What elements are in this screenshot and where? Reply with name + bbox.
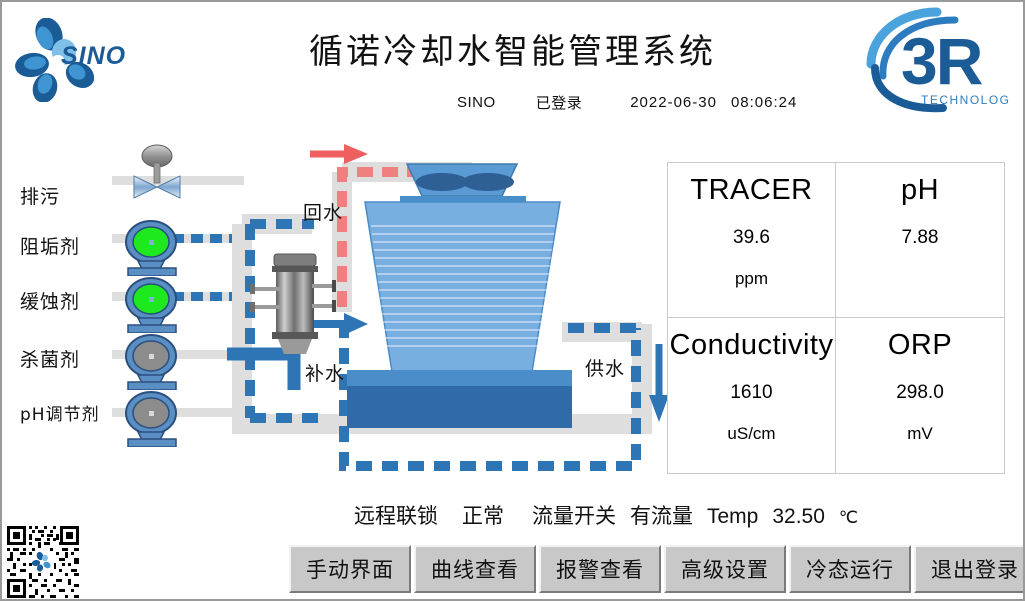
reading-label: TRACER: [690, 175, 812, 207]
label-supply-water: 供水: [585, 354, 625, 381]
arrow-return-water: [310, 144, 368, 164]
process-flow-diagram: [2, 132, 672, 482]
pump-corrosion-inhibitor[interactable]: [120, 277, 184, 333]
session-status-bar: SINO 已登录 2022-06-30 08:06:24: [457, 92, 797, 113]
pump-biocide[interactable]: [120, 334, 184, 390]
button-advanced-settings[interactable]: 高级设置: [664, 545, 786, 593]
3r-technology-logo: 3R TECHNOLOGY: [859, 6, 1011, 114]
system-time: 08:06:24: [731, 94, 797, 111]
button-cold-start-run[interactable]: 冷态运行: [789, 545, 911, 593]
blowdown-valve-icon[interactable]: [124, 143, 190, 205]
reading-value: 298.0: [896, 382, 944, 404]
system-date: 2022-06-30: [630, 94, 717, 111]
button-trend-view[interactable]: 曲线查看: [414, 545, 536, 593]
tower-basin: [347, 386, 572, 428]
measurements-panel: TRACER 39.6 ppm pH 7.88 Conductivity 161…: [667, 162, 1005, 474]
logged-in-user: SINO: [457, 94, 496, 111]
svg-text:3R: 3R: [901, 24, 983, 98]
tower-fan-blade-left: [416, 173, 468, 191]
reading-value: 39.6: [733, 227, 770, 249]
application-window: SINO 循诺冷却水智能管理系统 SINO 已登录 2022-06-30 08:…: [0, 0, 1025, 601]
flow-switch-value: 有流量: [630, 500, 693, 530]
temperature-label: Temp: [707, 505, 758, 529]
reading-orp: ORP 298.0 mV: [836, 318, 1004, 473]
reading-tracer: TRACER 39.6 ppm: [668, 163, 836, 318]
label-makeup-water: 补水: [305, 359, 345, 386]
reading-label: pH: [901, 175, 939, 207]
remote-interlock-label: 远程联锁: [354, 500, 438, 530]
label-return-water: 回水: [303, 198, 343, 225]
tower-basin-rim: [347, 370, 572, 386]
reading-ph: pH 7.88: [836, 163, 1004, 318]
reading-value: 7.88: [902, 227, 939, 249]
reading-conductivity: Conductivity 1610 uS/cm: [668, 318, 836, 473]
svg-text:TECHNOLOGY: TECHNOLOGY: [921, 93, 1011, 107]
pump-scale-inhibitor[interactable]: [120, 220, 184, 276]
reading-label: Conductivity: [670, 330, 834, 362]
main-button-bar: 手动界面 曲线查看 报警查看 高级设置 冷态运行 退出登录: [289, 545, 1025, 593]
reading-unit: uS/cm: [727, 424, 775, 444]
login-state: 已登录: [536, 92, 583, 113]
button-manual-interface[interactable]: 手动界面: [289, 545, 411, 593]
remote-interlock-value: 正常: [462, 500, 504, 530]
system-status-row: 远程联锁 正常 流量开关 有流量 Temp 32.50 ℃: [354, 500, 858, 530]
reading-label: ORP: [888, 330, 952, 362]
reading-unit: ppm: [735, 269, 768, 289]
button-logout[interactable]: 退出登录: [914, 545, 1025, 593]
qr-code[interactable]: [4, 523, 82, 601]
pump-ph-adjuster[interactable]: [120, 391, 184, 447]
tower-fan-blade-right: [462, 173, 514, 191]
button-alarm-view[interactable]: 报警查看: [539, 545, 661, 593]
reading-unit: mV: [907, 424, 933, 444]
reading-value: 1610: [730, 382, 772, 404]
temperature-unit: ℃: [839, 508, 858, 528]
cooling-tower: [347, 164, 572, 428]
temperature-value: 32.50: [772, 505, 825, 529]
flow-switch-label: 流量开关: [532, 500, 616, 530]
sensor-chamber: [250, 254, 336, 354]
